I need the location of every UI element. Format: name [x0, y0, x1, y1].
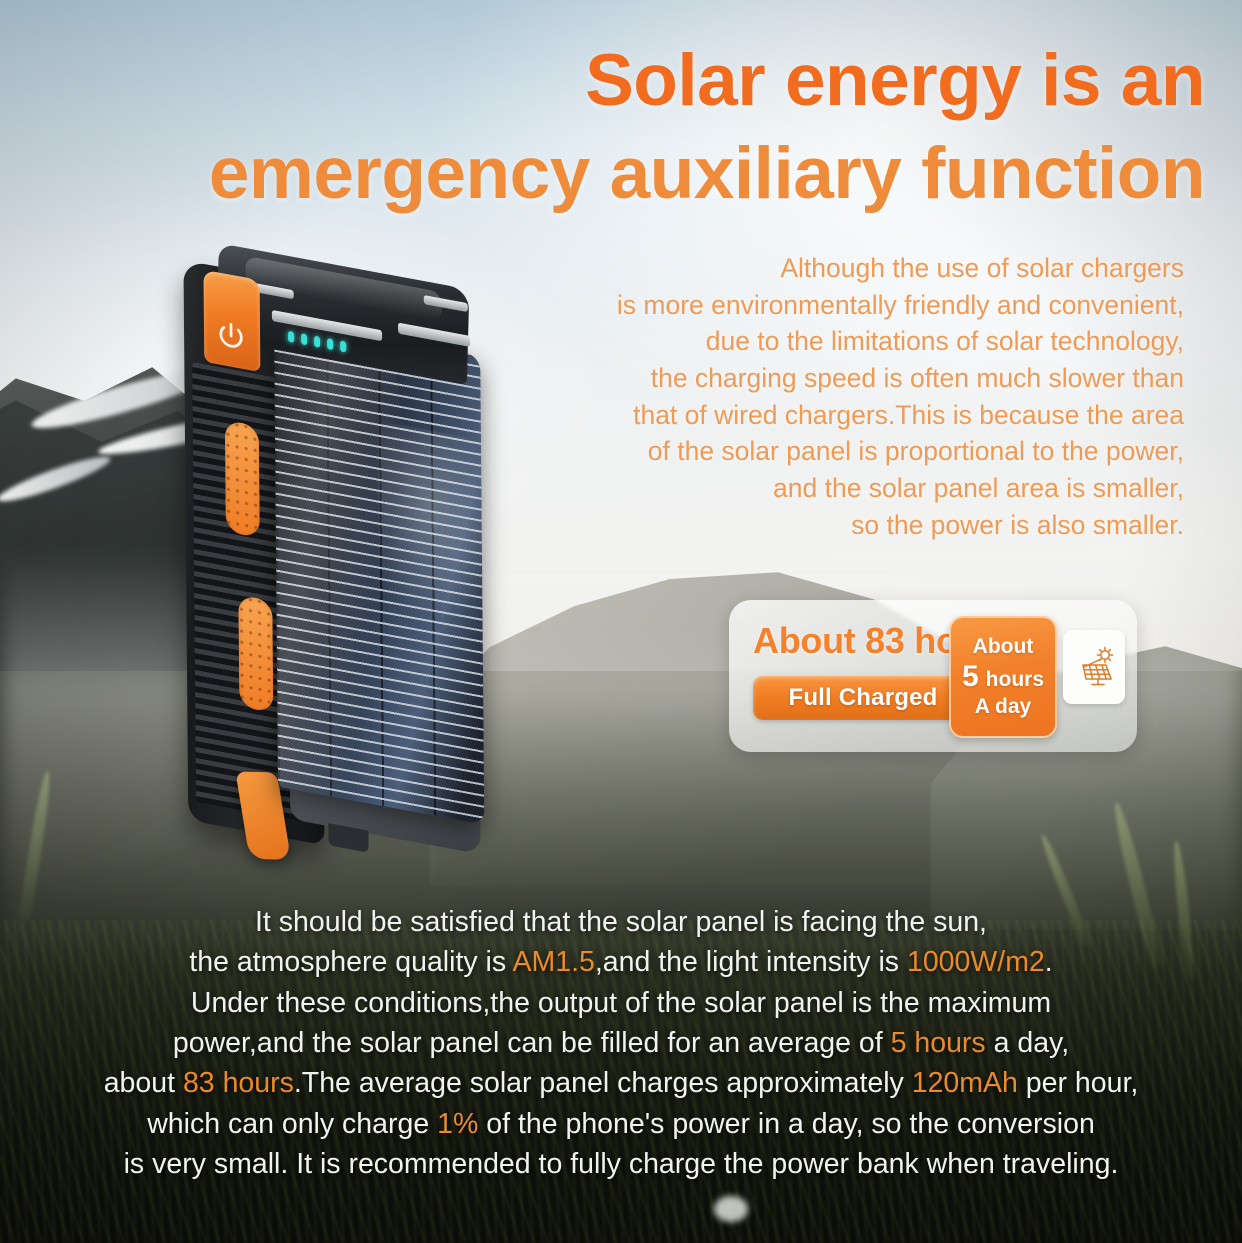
copy-text: power,and the solar panel can be filled … [173, 1027, 891, 1059]
led-indicator [340, 340, 346, 352]
bottom-copy-line: Under these conditions,the output of the… [56, 983, 1186, 1023]
solar-panel [274, 317, 484, 825]
copy-text: . [1045, 946, 1053, 978]
copy-text: Under these conditions,the output of the… [191, 987, 1051, 1019]
copy-text: .The average solar panel charges approxi… [294, 1067, 912, 1099]
day-card-about: About [973, 636, 1034, 658]
highlighted-value: 83 hours [183, 1067, 294, 1099]
led-indicator [327, 338, 333, 350]
intro-paragraph: Although the use of solar chargersis mor… [484, 250, 1184, 544]
copy-text: the atmosphere quality is [189, 946, 512, 978]
intro-line: due to the limitations of solar technolo… [484, 323, 1184, 360]
intro-line: that of wired chargers.This is because t… [484, 397, 1184, 434]
power-icon [214, 316, 248, 356]
day-card-value-row: 5 hours [962, 661, 1044, 693]
copy-text: of the phone's power in a day, so the co… [478, 1108, 1094, 1140]
day-card-a-day: A day [975, 696, 1031, 718]
highlighted-value: 1000W/m2 [907, 946, 1045, 978]
hours-per-day-card: About 5 hours A day [949, 616, 1057, 738]
intro-line: of the solar panel is proportional to th… [484, 433, 1184, 470]
highlighted-value: AM1.5 [512, 946, 594, 978]
copy-text: is very small. It is recommended to full… [124, 1148, 1119, 1180]
copy-text: ,and the light intensity is [595, 946, 907, 978]
led-indicator [288, 331, 294, 343]
highlighted-value: 1% [437, 1108, 478, 1140]
headline-line-1: Solar energy is an [60, 34, 1205, 127]
copy-text: a day, [986, 1027, 1069, 1059]
headline-line-2: emergency auxiliary function [60, 127, 1205, 220]
led-indicator [301, 333, 307, 345]
bottom-copy-line: power,and the solar panel can be filled … [56, 1023, 1186, 1063]
copy-text: per hour, [1018, 1067, 1138, 1099]
bottom-copy-line: is very small. It is recommended to full… [56, 1144, 1186, 1184]
day-card-unit: hours [986, 669, 1044, 691]
battery-label: Full Charged [788, 684, 937, 712]
solar-power-bank-product [175, 251, 510, 864]
bottom-copy-line: the atmosphere quality is AM1.5,and the … [56, 942, 1186, 982]
bottom-description: It should be satisfied that the solar pa… [56, 902, 1186, 1184]
rubber-grip-pad [238, 595, 273, 713]
copy-text: which can only charge [147, 1108, 437, 1140]
page-title: Solar energy is an emergency auxiliary f… [60, 34, 1205, 221]
led-indicator [314, 336, 320, 348]
intro-line: is more environmentally friendly and con… [484, 287, 1184, 324]
intro-line: Although the use of solar chargers [484, 250, 1184, 287]
intro-line: and the solar panel area is smaller, [484, 470, 1184, 507]
rubber-grip-pad [225, 420, 260, 538]
bottom-copy-line: which can only charge 1% of the phone's … [56, 1104, 1186, 1144]
solar-panel-sheen [378, 420, 485, 631]
charging-time-badge: About 83 hours Full Charged About 5 hour… [729, 600, 1137, 752]
solar-panel-icon [1063, 630, 1125, 704]
day-card-number: 5 [962, 661, 979, 693]
marketing-banner: Solar energy is an emergency auxiliary f… [0, 0, 1242, 1243]
copy-text: about [104, 1067, 183, 1099]
intro-line: the charging speed is often much slower … [484, 360, 1184, 397]
highlighted-value: 5 hours [891, 1027, 986, 1059]
intro-line: so the power is also smaller. [484, 507, 1184, 544]
bottom-copy-line: It should be satisfied that the solar pa… [56, 902, 1186, 942]
copy-text: It should be satisfied that the solar pa… [255, 906, 987, 938]
bottom-copy-line: about 83 hours.The average solar panel c… [56, 1063, 1186, 1103]
battery-graphic: Full Charged [753, 676, 973, 720]
highlighted-value: 120mAh [912, 1067, 1018, 1099]
